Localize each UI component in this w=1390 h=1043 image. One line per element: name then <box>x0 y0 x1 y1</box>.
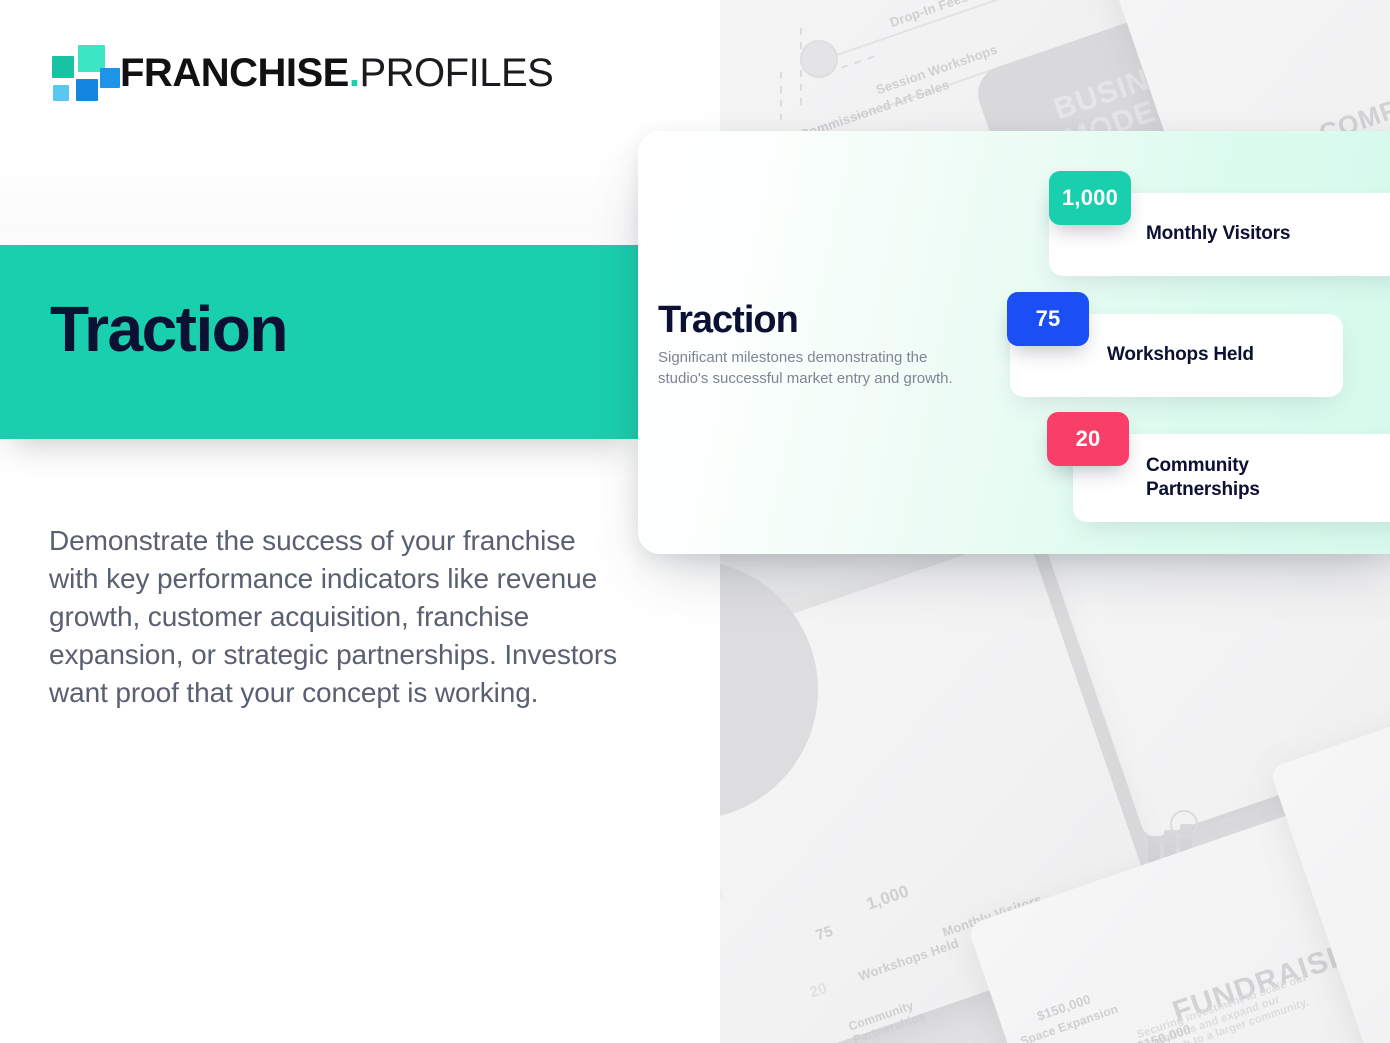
card-subtitle: Significant milestones demonstrating the… <box>658 347 958 390</box>
logo-mark-icon <box>48 44 106 102</box>
slide-root: Drop-In Fees Session Workshops Commissio… <box>0 0 1390 1043</box>
brand-name-bold: FRANCHISE <box>120 51 349 95</box>
metric-badge-community-partnerships: 20 <box>1047 412 1129 466</box>
brand-name-thin: PROFILES <box>359 51 553 95</box>
body-paragraph: Demonstrate the success of your franchis… <box>49 522 629 712</box>
bg-coin-icon <box>1170 810 1198 838</box>
section-banner: Traction <box>0 245 638 439</box>
page-title: Traction <box>50 297 287 361</box>
bg-dash-3 <box>780 72 782 120</box>
brand-logo[interactable]: FRANCHISE.PROFILES <box>48 44 553 102</box>
bg-dash-line <box>800 28 802 112</box>
brand-name-dot: . <box>349 51 360 95</box>
traction-preview-card: Traction Significant milestones demonstr… <box>638 131 1390 554</box>
brand-wordmark: FRANCHISE.PROFILES <box>120 53 553 93</box>
metric-label-community-partnerships: Community Partnerships <box>1146 454 1260 503</box>
metric-badge-monthly-visitors: 1,000 <box>1049 171 1131 225</box>
metric-label-monthly-visitors: Monthly Visitors <box>1146 222 1290 246</box>
metric-badge-workshops-held: 75 <box>1007 292 1089 346</box>
metric-label-workshops-held: Workshops Held <box>1107 343 1254 367</box>
left-content-panel: FRANCHISE.PROFILES Traction Demonstrate … <box>0 0 720 1043</box>
card-title: Traction <box>658 299 798 342</box>
